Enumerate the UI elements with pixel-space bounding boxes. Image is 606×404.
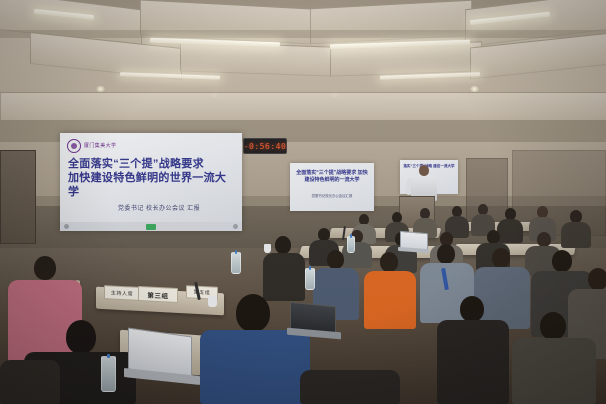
countdown-clock-value: -0:56:40 (244, 142, 287, 151)
slide-headline: 全面落实“三个提”战略要求 加快建设特色鲜明的世界一流大学 (68, 157, 234, 199)
laptop-foreground[interactable] (128, 332, 204, 380)
slide-nav-dot-icon (64, 224, 69, 229)
nameplate-group-3-text: 第三组 (147, 289, 168, 300)
speaker-head (419, 165, 429, 176)
conference-room-photo: 厦门集美大学 全面落实“三个提”战略要求 加快建设特色鲜明的世界一流大学 党委书… (0, 0, 606, 404)
secondary-monitor-subline: 党委书记校长办公会议汇报 (295, 193, 369, 198)
university-emblem-icon (67, 139, 81, 153)
laptop-back-right[interactable] (400, 232, 430, 252)
nameplate-host-text: 主持人席 (111, 289, 133, 297)
slide-subline: 党委书记 校长办公会议 汇报 (94, 203, 224, 212)
slide-bottom-bar (60, 222, 242, 231)
main-projection-screen: 厦门集美大学 全面落实“三个提”战略要求 加快建设特色鲜明的世界一流大学 党委书… (60, 133, 242, 231)
slide-nav-dot-icon (233, 224, 238, 229)
slide-headline-line2: 加快建设特色鲜明的世界一流大学 (68, 171, 234, 199)
secondary-monitor: 全面落实“三个提”战略要求 加快建设特色鲜明的一流大学 党委书记校长办公会议汇报 (290, 163, 374, 211)
secondary-monitor-headline: 全面落实“三个提”战略要求 加快建设特色鲜明的一流大学 (295, 170, 369, 184)
water-bottle-mid[interactable] (231, 252, 241, 274)
paper-cup-back[interactable] (264, 244, 271, 253)
nameplate-host: 主持人席 (104, 285, 140, 301)
slide-headline-line1: 全面落实“三个提”战略要求 (68, 157, 234, 171)
side-door-left (0, 150, 36, 244)
water-bottle-mid-2[interactable] (305, 268, 315, 290)
university-logo-text: 厦门集美大学 (84, 142, 116, 149)
tertiary-monitor-headline: 落实“三个提”战略 建设一流大学 (403, 164, 455, 169)
paper-cup[interactable] (208, 296, 217, 307)
ceiling-seam (0, 30, 606, 38)
countdown-clock: -0:56:40 (243, 138, 287, 154)
university-logo: 厦门集美大学 (67, 139, 133, 152)
ceiling-panel (180, 41, 332, 76)
water-bottle-foreground[interactable] (101, 356, 116, 392)
slide-status-indicator (146, 224, 156, 230)
water-bottle-back[interactable] (347, 236, 355, 253)
nameplate-group-3: 第三组 (138, 286, 178, 303)
laptop-mid[interactable] (290, 304, 342, 336)
